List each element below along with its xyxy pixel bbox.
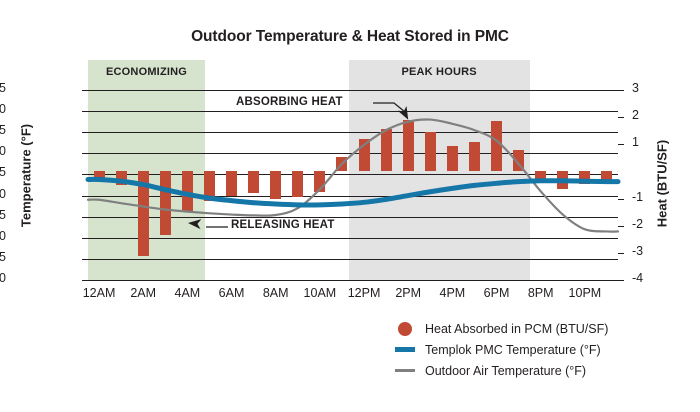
y-axis-tick-label-right: 2 [632,108,672,122]
legend-thin-line-icon [395,369,415,372]
chart-legend: Heat Absorbed in PCM (BTU/SF)Templok PMC… [393,318,693,381]
y-axis-tick-label-right: -3 [632,244,672,258]
chart-title: Outdoor Temperature & Heat Stored in PMC [0,28,700,46]
y-axis-tick-label-left: 90 [0,102,6,116]
y-tick-left [82,280,88,281]
legend-dot-icon [398,322,412,336]
x-axis-tick-label: 10PM [555,286,615,300]
y-axis-tick-label-right: -4 [632,271,672,285]
legend-marker [393,369,417,372]
y-axis-tick-label-right: -2 [632,217,672,231]
annotation-arrow-icon [188,218,202,229]
legend-thick-line-icon [395,347,415,352]
y-axis-tick-label-left: 75 [0,165,6,179]
annotation-leaders [88,90,618,280]
legend-item[interactable]: Outdoor Air Temperature (°F) [393,360,693,381]
chart-root: Outdoor Temperature & Heat Stored in PMC… [0,0,700,412]
y-axis-tick-label-left: 95 [0,81,6,95]
annotation-label: RELEASING HEAT [231,219,335,231]
gridline [88,280,618,281]
y-tick-right [618,90,624,91]
y-axis-tick-label-right: 1 [632,135,672,149]
y-axis-tick-label-left: 60 [0,229,6,243]
y-axis-tick-label-right: -1 [632,190,672,204]
y-axis-tick-label-left: 85 [0,123,6,137]
y-tick-right [618,253,624,254]
y-axis-tick-label-left: 50 [0,271,6,285]
band-label: ECONOMIZING [88,66,205,78]
y-axis-tick-label-left: 65 [0,208,6,222]
y-tick-right [618,144,624,145]
y-axis-tick-label-left: 80 [0,144,6,158]
y-tick-right [618,199,624,200]
legend-marker [393,347,417,352]
legend-item[interactable]: Heat Absorbed in PCM (BTU/SF) [393,318,693,339]
y-tick-right [618,117,624,118]
annotation-label: ABSORBING HEAT [236,96,343,108]
legend-label: Heat Absorbed in PCM (BTU/SF) [417,322,608,336]
y-axis-title-left: Temperature (°F) [19,106,34,246]
y-tick-right [618,226,624,227]
legend-marker [393,322,417,336]
y-tick-right [618,280,624,281]
plot-area: ECONOMIZINGPEAK HOURS ABSORBING HEATRELE… [88,90,618,280]
y-axis-tick-label-left: 55 [0,250,6,264]
y-axis-tick-label-right: 3 [632,81,672,95]
band-label: PEAK HOURS [349,66,530,78]
y-axis-tick-label-left: 70 [0,187,6,201]
legend-label: Outdoor Air Temperature (°F) [417,364,586,378]
legend-item[interactable]: Templok PMC Temperature (°F) [393,339,693,360]
legend-label: Templok PMC Temperature (°F) [417,343,601,357]
